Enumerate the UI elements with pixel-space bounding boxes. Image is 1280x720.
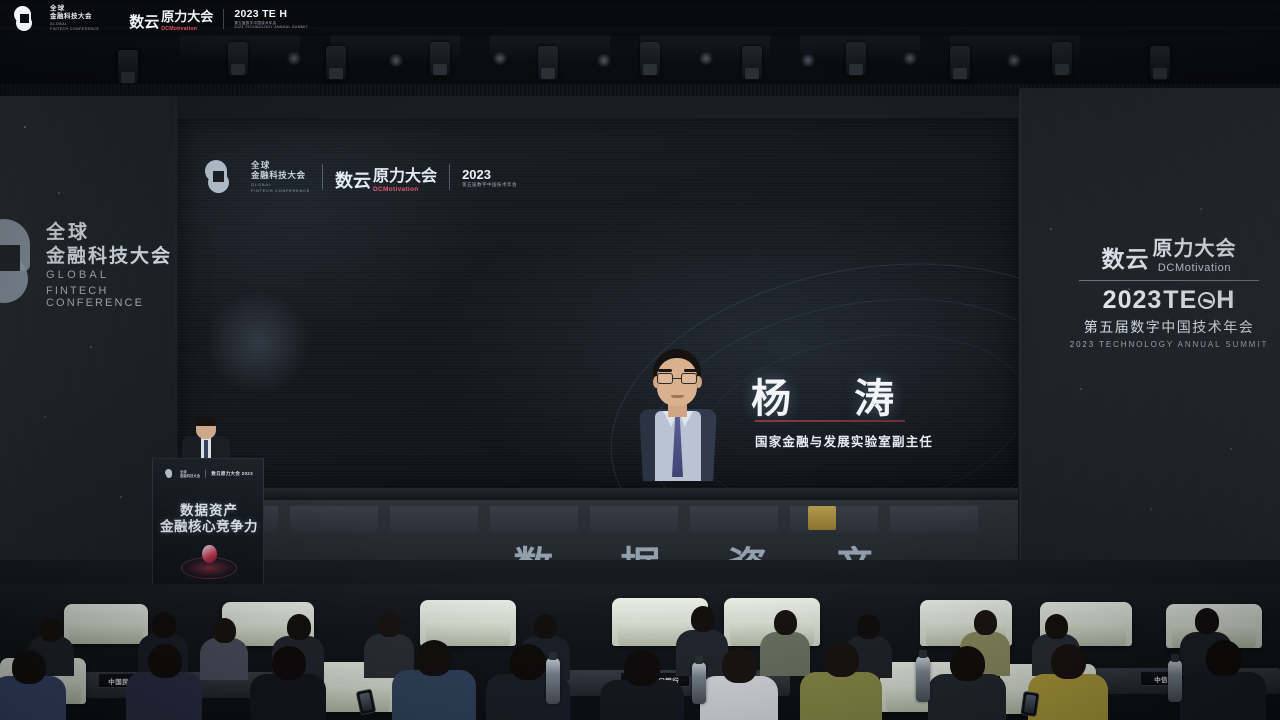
gftc-mark-icon bbox=[165, 469, 175, 479]
water-bottle bbox=[1168, 660, 1182, 702]
speaker-title: 国家金融与发展实验室副主任 bbox=[755, 431, 933, 450]
screen-bezel bbox=[178, 488, 1018, 500]
podium-headline-line2: 金融核心竞争力 bbox=[153, 515, 264, 535]
screen-year-sub: 第五届数字中国技术年会 bbox=[462, 182, 517, 188]
light-glow bbox=[596, 54, 612, 67]
stage-light-icon bbox=[326, 46, 346, 80]
left-wall-signage: 全球 金融科技大会 GLOBAL FINTECH CONFERENCE bbox=[4, 215, 172, 335]
right-sign-brand-row: 数云 原力大会 DCMotivation bbox=[1062, 232, 1276, 274]
overlay-brand-cn2: 原力大会 bbox=[161, 9, 213, 24]
right-sign-brand-cn: 数云 bbox=[1102, 240, 1150, 274]
overlay-logo-group: 全球 金融科技大会 GLOBAL FINTECH CONFERENCE 数云 原… bbox=[14, 5, 308, 32]
screen-gftc-en2: FINTECH CONFERENCE bbox=[251, 188, 310, 194]
stage-light-icon bbox=[118, 50, 138, 84]
right-sign-tech-tail: H bbox=[1216, 286, 1235, 315]
light-glow bbox=[286, 52, 302, 65]
audience-member-front bbox=[392, 640, 476, 720]
speaker-portrait bbox=[641, 349, 715, 481]
speaker-name-underline bbox=[755, 420, 905, 422]
overlay-brand-cn: 数云 bbox=[129, 11, 159, 32]
right-wall-signage: 数云 原力大会 DCMotivation 2023 TE H 第五届数字中国技术… bbox=[1062, 232, 1276, 342]
stage-light-icon bbox=[950, 46, 970, 80]
stage-light-icon bbox=[742, 46, 762, 80]
overlay-gftc-en2: FINTECH CONFERENCE bbox=[50, 27, 99, 32]
overlay-year-tech: 2023 TE H bbox=[234, 8, 308, 20]
audience-member bbox=[200, 618, 248, 676]
water-bottle bbox=[546, 658, 560, 704]
right-sign-brand-cn2: 原力大会 bbox=[1153, 238, 1237, 260]
gftc-mark-icon bbox=[205, 160, 239, 194]
light-glow bbox=[1006, 54, 1022, 67]
screen-gftc-cn1: 全球 bbox=[251, 160, 310, 170]
left-sign-en-line2: FINTECH CONFERENCE bbox=[46, 285, 172, 309]
light-glow bbox=[800, 54, 816, 67]
overlay-gftc-cn2: 金融科技大会 bbox=[50, 13, 99, 21]
light-glow bbox=[698, 52, 714, 65]
audience-area: 中国民生银行 中国进出口银行 中信银行 bbox=[0, 584, 1280, 720]
right-sign-tech-row: 2023 TE H bbox=[1062, 286, 1276, 315]
logo-divider bbox=[449, 164, 450, 190]
water-bottle bbox=[916, 656, 930, 702]
wall-seam bbox=[1019, 90, 1021, 596]
logo-divider bbox=[223, 9, 224, 29]
audience-member-front bbox=[928, 646, 1006, 720]
gftc-mark-icon bbox=[14, 6, 40, 32]
audience-member-front bbox=[126, 644, 202, 720]
logo-divider bbox=[205, 470, 206, 478]
stage-light-icon bbox=[640, 42, 660, 76]
left-wall-panel bbox=[0, 96, 175, 606]
stage-light-icon bbox=[1052, 42, 1072, 76]
podium-logo-strip: 全球 金融科技大会 数云原力大会 2023 bbox=[165, 469, 253, 479]
overlay-gftc-cn1: 全球 bbox=[50, 5, 99, 13]
overlay-brand-en: DCMotivation bbox=[161, 26, 213, 32]
led-stage-screen: 全球 金融科技大会 GLOBAL FINTECH CONFERENCE 数云 原… bbox=[178, 118, 1018, 488]
stage-light-icon bbox=[538, 46, 558, 80]
brand-orb-graphic bbox=[181, 545, 237, 579]
stage-light-icon bbox=[1150, 46, 1170, 80]
screen-brand-cn: 数云 bbox=[335, 167, 371, 193]
podium: 全球 金融科技大会 数云原力大会 2023 数据资产 金融核心竞争力 bbox=[152, 458, 264, 588]
audience-member-front bbox=[1028, 644, 1108, 720]
screen-brand-cn2: 原力大会 bbox=[373, 168, 437, 185]
right-sign-divider bbox=[1079, 280, 1259, 281]
left-sign-cn-line1: 全球 bbox=[46, 217, 90, 244]
audience-member-front bbox=[0, 650, 66, 720]
podium-logo-right: 数云原力大会 2023 bbox=[211, 471, 253, 477]
right-sign-sub-cn: 第五届数字中国技术年会 bbox=[1062, 317, 1276, 337]
stage-light-icon bbox=[846, 42, 866, 76]
light-glow bbox=[388, 54, 404, 67]
audience-seat bbox=[64, 604, 148, 644]
screen-logo-strip: 全球 金融科技大会 GLOBAL FINTECH CONFERENCE 数云 原… bbox=[205, 160, 517, 194]
right-sign-year: 2023 bbox=[1103, 286, 1163, 315]
conference-stage-scene: 全球 金融科技大会 GLOBAL FINTECH CONFERENCE 数云 原… bbox=[0, 0, 1280, 720]
stage-light-icon bbox=[430, 42, 450, 76]
screen-brand-en: DCMotivation bbox=[373, 186, 437, 193]
audience-member-front bbox=[250, 646, 326, 720]
audience-member-front bbox=[600, 650, 684, 720]
stage-light-icon bbox=[228, 42, 248, 76]
right-sign-tech: TE bbox=[1163, 286, 1197, 315]
smartphone-icon bbox=[1020, 691, 1039, 717]
screen-year: 2023 bbox=[462, 167, 517, 182]
speaker-name: 杨 涛 bbox=[751, 366, 920, 424]
right-sign-brand-en: DCMotivation bbox=[1153, 262, 1237, 274]
audience-member-front bbox=[700, 648, 778, 720]
podium-logo-cn2: 金融科技大会 bbox=[180, 474, 200, 478]
light-glow bbox=[902, 52, 918, 65]
overlay-sub-en: 2023 TECHNOLOGY ANNUAL SUMMIT bbox=[234, 25, 308, 29]
eyeglasses-icon bbox=[657, 373, 697, 384]
left-sign-en-line1: GLOBAL bbox=[46, 269, 109, 281]
screen-gftc-cn2: 金融科技大会 bbox=[251, 170, 310, 180]
gftc-mark-icon bbox=[0, 219, 34, 305]
at-symbol-icon bbox=[1196, 290, 1218, 312]
audience-member-front bbox=[800, 642, 882, 720]
right-sign-sub-en: 2023 TECHNOLOGY ANNUAL SUMMIT bbox=[1062, 340, 1276, 349]
light-glow bbox=[492, 52, 508, 65]
water-bottle bbox=[692, 662, 706, 704]
logo-divider bbox=[322, 164, 323, 190]
broadcast-overlay-bar: 全球 金融科技大会 GLOBAL FINTECH CONFERENCE 数云 原… bbox=[0, 0, 1280, 36]
audience-member-front bbox=[1180, 640, 1266, 720]
left-sign-cn-line2: 金融科技大会 bbox=[46, 241, 172, 268]
